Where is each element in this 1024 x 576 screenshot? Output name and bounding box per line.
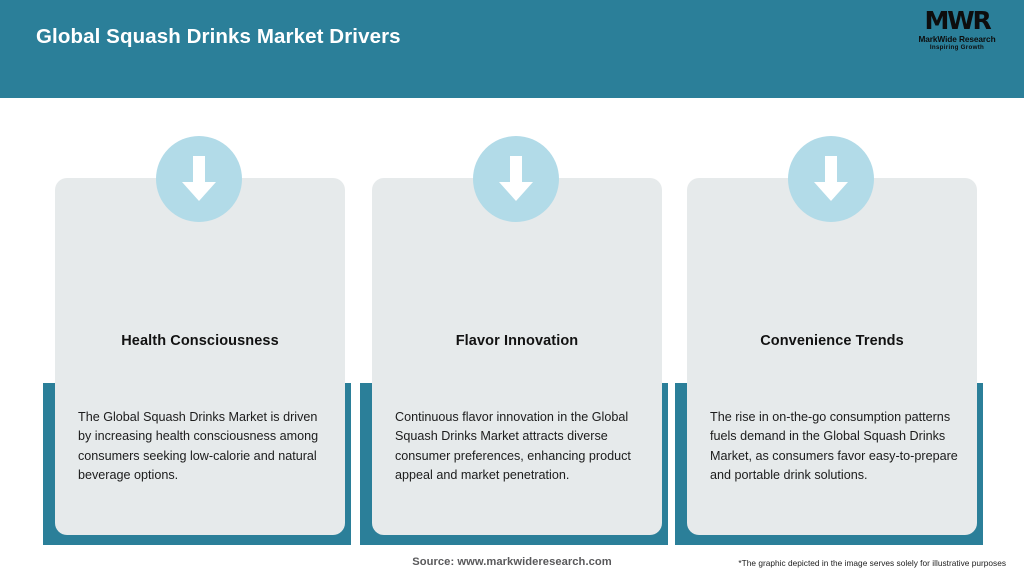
driver-card-flavor-innovation: Flavor Innovation Continuous flavor inno… bbox=[358, 98, 674, 545]
logo-mark-text: MWR bbox=[924, 8, 989, 33]
card-panel: Flavor Innovation Continuous flavor inno… bbox=[372, 178, 662, 535]
card-body-text: Continuous flavor innovation in the Glob… bbox=[395, 408, 647, 486]
logo-tagline: Inspiring Growth bbox=[930, 44, 984, 51]
down-arrow-icon bbox=[473, 136, 559, 222]
down-arrow-icon bbox=[788, 136, 874, 222]
company-logo: MWR MarkWide Research Inspiring Growth bbox=[902, 6, 1012, 54]
page-header: Global Squash Drinks Market Drivers MWR … bbox=[0, 0, 1024, 98]
down-arrow-icon bbox=[156, 136, 242, 222]
driver-cards-container: Health Consciousness The Global Squash D… bbox=[0, 98, 1024, 545]
card-title: Flavor Innovation bbox=[372, 333, 662, 349]
disclaimer-note: *The graphic depicted in the image serve… bbox=[738, 558, 1006, 568]
card-panel: Convenience Trends The rise in on-the-go… bbox=[687, 178, 977, 535]
card-panel: Health Consciousness The Global Squash D… bbox=[55, 178, 345, 535]
card-body-text: The Global Squash Drinks Market is drive… bbox=[78, 408, 330, 486]
page-title: Global Squash Drinks Market Drivers bbox=[36, 25, 401, 49]
card-body-text: The rise in on-the-go consumption patter… bbox=[710, 408, 962, 486]
driver-card-health-consciousness: Health Consciousness The Global Squash D… bbox=[41, 98, 357, 545]
logo-company-name: MarkWide Research bbox=[918, 34, 995, 44]
card-title: Health Consciousness bbox=[55, 333, 345, 349]
driver-card-convenience-trends: Convenience Trends The rise in on-the-go… bbox=[673, 98, 989, 545]
card-title: Convenience Trends bbox=[687, 333, 977, 349]
